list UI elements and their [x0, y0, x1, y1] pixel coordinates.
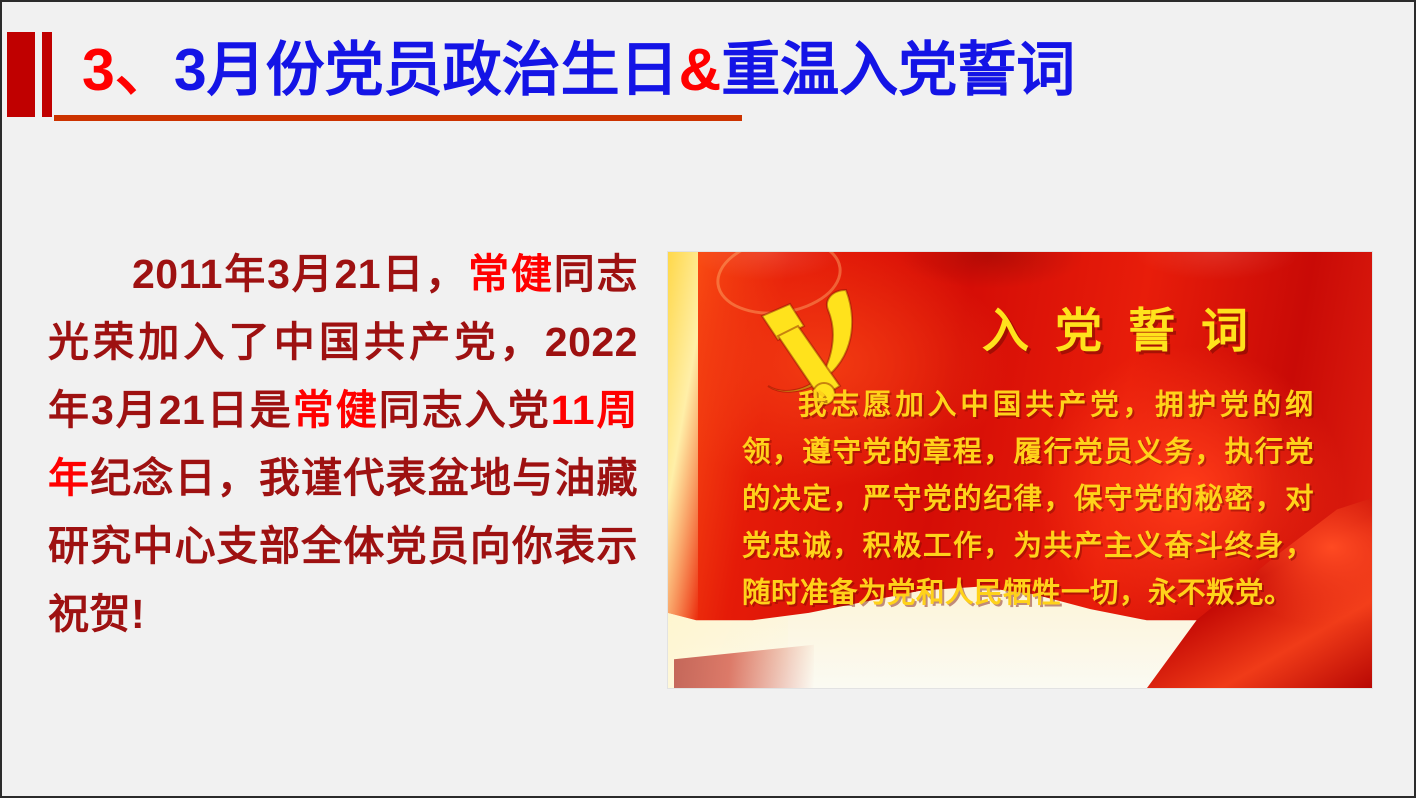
party-oath-image: 入党誓词 我志愿加入中国共产党，拥护党的纲领，遵守党的章程，履行党员义务，执行党… [668, 252, 1372, 688]
title-ampersand: & [679, 37, 722, 103]
oath-heading: 入党誓词 [908, 292, 1348, 361]
title-accent-bar-narrow [42, 32, 52, 117]
body-segment: 纪念日，我谨代表盆地与油藏研究中心支部全体党员向你表示祝贺! [48, 455, 638, 637]
page-title: 3、3月份党员政治生日&重温入党誓词 [82, 30, 1042, 110]
title-number: 3、 [82, 37, 174, 103]
slide: 3、3月份党员政治生日&重温入党誓词 2011年3月21日，常健同志光荣加入了中… [0, 0, 1416, 798]
flag-gold-edge [668, 252, 698, 624]
title-part-one: 3月份党员政治生日 [174, 37, 679, 103]
congratulation-paragraph: 2011年3月21日，常健同志光荣加入了中国共产党，2022年3月21日是常健同… [48, 240, 638, 648]
oath-text: 我志愿加入中国共产党，拥护党的纲领，遵守党的章程，履行党员义务，执行党的决定，严… [742, 382, 1314, 617]
body-segment: 同志入党 [379, 387, 551, 433]
title-accent-bar-wide [7, 32, 35, 117]
body-segment: 2011年3月21日， [132, 251, 468, 297]
body-segment-highlight: 常健 [468, 251, 554, 297]
title-underline [54, 115, 742, 121]
title-part-two: 重温入党誓词 [721, 37, 1075, 103]
body-segment-highlight: 常健 [293, 387, 379, 433]
